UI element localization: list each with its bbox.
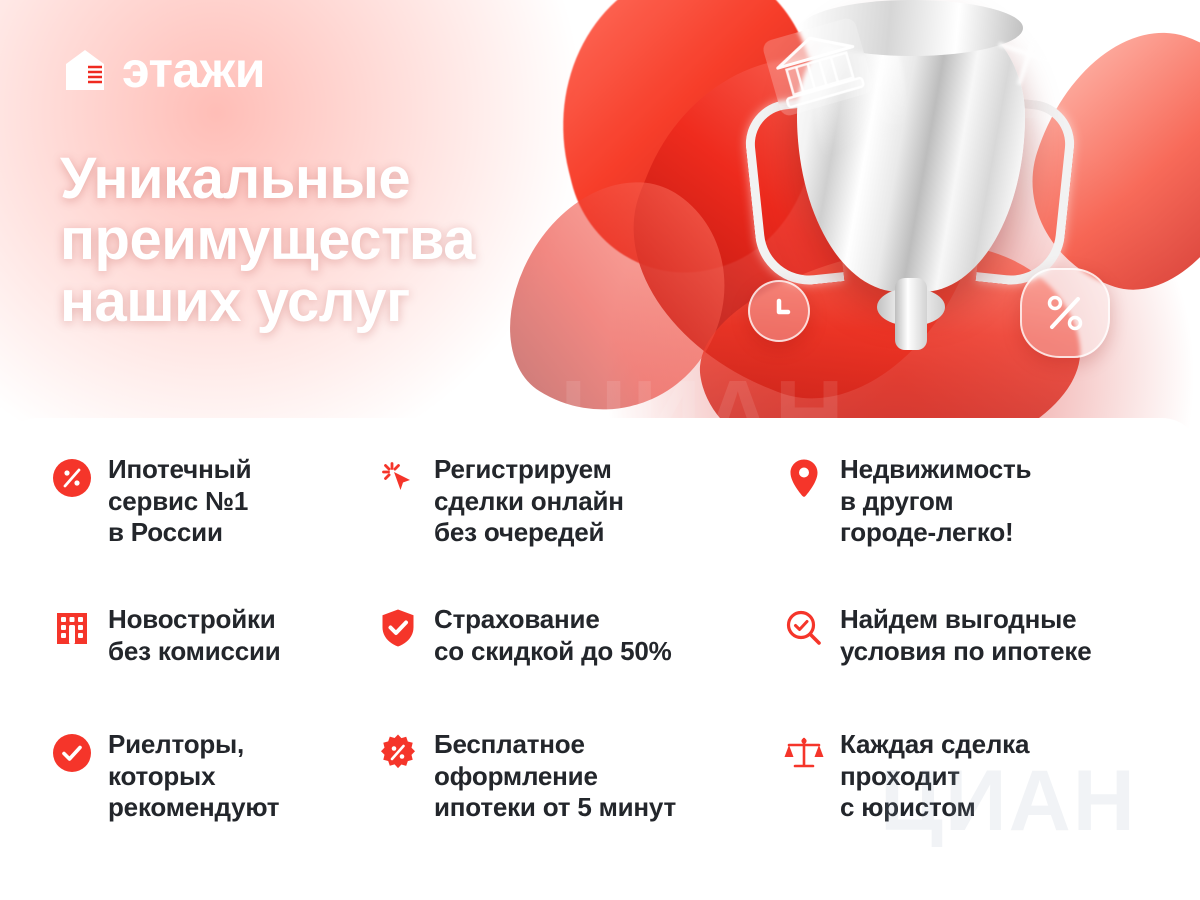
percent-circle-icon xyxy=(52,458,92,498)
feature-item-recommended-agents: Риелторы, которых рекомендуют xyxy=(52,729,372,824)
scales-justice-icon xyxy=(784,733,824,773)
brand-logo[interactable]: этажи xyxy=(62,45,265,95)
search-check-icon xyxy=(784,608,824,648)
feature-item-mortgage-service: Ипотечный сервис №1 в России xyxy=(52,454,372,604)
feature-text: Новостройки без комиссии xyxy=(108,604,281,667)
feature-item-online-deals: Регистрируем сделки онлайн без очередей xyxy=(378,454,778,604)
promo-banner: ЦИАН xyxy=(0,0,1200,900)
map-pin-icon xyxy=(784,458,824,498)
feature-text: Найдем выгодные условия по ипотеке xyxy=(840,604,1092,667)
feature-item-new-buildings: Новостройки без комиссии xyxy=(52,604,372,729)
hero-section: ЦИАН xyxy=(0,0,1200,470)
feature-item-other-city: Недвижимость в другом городе-легко! xyxy=(784,454,1174,604)
feature-text: Регистрируем сделки онлайн без очередей xyxy=(434,454,624,549)
feature-text: Страхование со скидкой до 50% xyxy=(434,604,672,667)
feature-text: Риелторы, которых рекомендуют xyxy=(108,729,279,824)
percent-burst-icon xyxy=(378,733,418,773)
silk-ribbon-shape xyxy=(472,145,769,455)
feature-item-best-mortgage: Найдем выгодные условия по ипотеке xyxy=(784,604,1174,729)
office-building-icon xyxy=(52,608,92,648)
feature-item-insurance-discount: Страхование со скидкой до 50% xyxy=(378,604,778,729)
check-circle-icon xyxy=(52,733,92,773)
feature-item-lawyer-deal: Каждая сделка проходит с юристом xyxy=(784,729,1174,824)
cursor-click-icon xyxy=(378,458,418,498)
feature-text: Ипотечный сервис №1 в России xyxy=(108,454,251,549)
clock-glass-icon xyxy=(748,280,810,342)
features-grid: Ипотечный сервис №1 в России Регистрируе… xyxy=(52,454,1162,824)
brand-name: этажи xyxy=(122,45,265,95)
page-title: Уникальные преимущества наших услуг xyxy=(60,148,475,332)
feature-text: Бесплатное оформление ипотеки от 5 минут xyxy=(434,729,676,824)
trophy-stem xyxy=(895,278,927,350)
features-card: Ипотечный сервис №1 в России Регистрируе… xyxy=(0,418,1200,900)
shield-check-icon xyxy=(378,608,418,648)
feature-text: Недвижимость в другом городе-легко! xyxy=(840,454,1031,549)
feature-text: Каждая сделка проходит с юристом xyxy=(840,729,1029,824)
percent-badge-glass-icon xyxy=(1020,268,1110,358)
feature-item-free-paperwork: Бесплатное оформление ипотеки от 5 минут xyxy=(378,729,778,824)
building-logo-icon xyxy=(62,48,108,92)
